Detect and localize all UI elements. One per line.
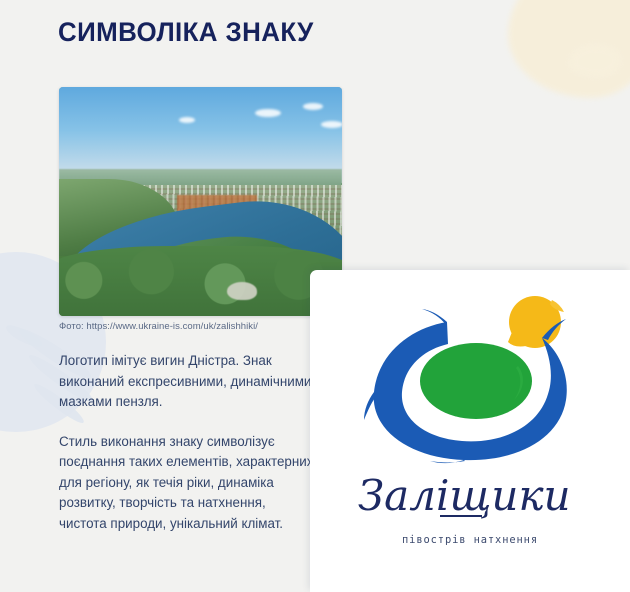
logo-card: Заліщики півострів натхнення [310,270,630,592]
svg-text:Заліщики: Заліщики [358,471,571,520]
body-copy: Логотип імітує вигин Дністра. Знак викон… [59,351,315,534]
zalishchyky-logo-mark [352,288,588,469]
page-title: СИМВОЛІКА ЗНАКУ [58,17,314,48]
body-paragraph-2: Стиль виконання знаку символізує поєднан… [59,432,315,535]
zalishchyky-wordmark: Заліщики [354,466,586,533]
photo-rock [227,282,257,300]
sun-icon [508,296,564,348]
photo-cloud [255,109,281,117]
peninsula-icon [420,343,532,419]
cream-blob-decoration-small [568,44,622,78]
body-paragraph-1: Логотип імітує вигин Дністра. Знак викон… [59,351,315,413]
slide-canvas: СИМВОЛІКА ЗНАКУ Фото: https://www.ukrain… [0,0,630,592]
aerial-photo [59,87,342,316]
photo-cloud [321,121,342,128]
logo-tagline: півострів натхнення [402,534,538,546]
photo-foreground-forest [59,246,342,316]
photo-image [59,87,342,316]
photo-caption: Фото: https://www.ukraine-is.com/uk/zali… [59,321,258,332]
photo-cloud [179,117,195,123]
photo-cloud [303,103,323,110]
